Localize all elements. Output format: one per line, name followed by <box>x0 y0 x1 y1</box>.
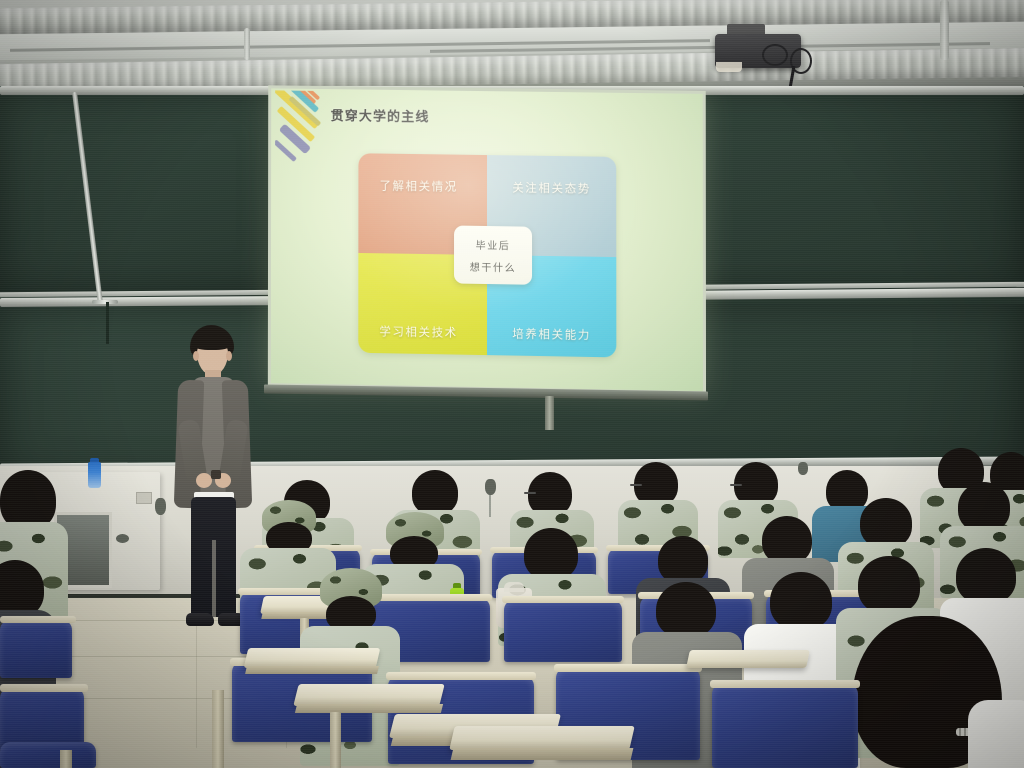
glasses-icon <box>630 484 642 486</box>
fold-out-desk[interactable] <box>293 684 444 706</box>
student-head <box>956 548 1016 604</box>
seat-support-post <box>212 690 224 768</box>
seat-top-edge <box>0 616 76 623</box>
seat-top-edge <box>386 672 536 680</box>
seat-support-post <box>60 750 72 768</box>
student-s19 <box>852 616 1020 768</box>
wall-socket[interactable] <box>136 492 152 504</box>
student-head <box>770 572 832 630</box>
quadrant-top-left-label: 了解相关情况 <box>379 177 457 194</box>
student-head <box>656 582 716 638</box>
seat-top-edge <box>502 596 624 603</box>
presenter-hand-left <box>196 473 212 488</box>
student-head <box>762 516 812 564</box>
presenter-hair-fringe <box>192 335 232 350</box>
presenter-ear-right <box>226 351 232 361</box>
projector-cable <box>762 44 788 66</box>
wall-hook-stem <box>489 495 491 517</box>
slide-decoration <box>275 90 352 167</box>
green-bottle-cap-icon <box>453 583 461 588</box>
fold-out-desk[interactable] <box>449 726 635 750</box>
desk-edge <box>451 748 634 760</box>
desk-edge <box>295 704 443 713</box>
student-torso <box>968 700 1024 768</box>
presenter-ear-left <box>193 351 199 361</box>
glasses-icon <box>730 484 742 486</box>
quadrant-bottom-left-label: 学习相关技术 <box>379 323 457 340</box>
projector-lens-icon <box>716 62 742 72</box>
student-head <box>412 470 458 515</box>
seat-top-edge <box>710 680 860 688</box>
wall-hook-icon-2 <box>116 534 129 543</box>
seat-top-edge <box>554 664 702 672</box>
fold-out-desk[interactable] <box>686 650 810 668</box>
center-box-line-1: 毕业后 <box>476 236 511 252</box>
presentation-clicker[interactable] <box>211 470 221 479</box>
lecture-hall-photo: 贯穿大学的主线 了解相关情况 关注相关态势 学习相关技术 培养相关能力 <box>0 0 1024 768</box>
slide-surface: 贯穿大学的主线 了解相关情况 关注相关态势 学习相关技术 培养相关能力 <box>271 88 703 391</box>
plastic-bag-handle <box>504 582 524 592</box>
presenter-leg-gap <box>212 540 216 618</box>
center-box-line-2: 想干什么 <box>470 258 516 274</box>
student-head <box>858 556 920 614</box>
screen-rod-hook-icon <box>106 302 109 344</box>
wall-hook-icon-3 <box>485 479 496 495</box>
student-head <box>958 482 1010 532</box>
screen-rod-joint <box>92 300 118 304</box>
student-head <box>524 528 578 580</box>
seat-top-edge <box>0 684 88 692</box>
desk-edge <box>245 666 379 674</box>
seat-support-post <box>330 712 341 768</box>
projection-screen[interactable]: 贯穿大学的主线 了解相关情况 关注相关态势 学习相关技术 培养相关能力 <box>268 85 706 394</box>
student-head <box>658 536 708 584</box>
seat-back[interactable] <box>504 600 622 662</box>
screen-bar-stub <box>545 396 554 430</box>
fold-out-desk[interactable] <box>244 648 381 668</box>
blackboard-panel-left-top <box>0 90 280 296</box>
student-head <box>0 470 56 530</box>
center-question-box[interactable]: 毕业后 想干什么 <box>454 226 532 285</box>
student-head <box>860 498 912 548</box>
seat-back[interactable] <box>712 684 858 768</box>
screen-frame: 贯穿大学的主线 了解相关情况 关注相关态势 学习相关技术 培养相关能力 <box>268 85 706 394</box>
quadrant-bottom-right-label: 培养相关能力 <box>512 325 591 342</box>
slide-title: 贯穿大学的主线 <box>331 105 430 125</box>
quadrant-top-right-label: 关注相关态势 <box>512 179 591 196</box>
vertical-pipe-2 <box>244 28 250 60</box>
seat-back[interactable] <box>0 620 72 678</box>
blue-water-bottle[interactable] <box>88 462 101 488</box>
glasses-icon <box>524 492 536 494</box>
wall-hook-icon-4 <box>798 462 808 475</box>
presenter-shoe-left <box>186 613 214 626</box>
vertical-pipe <box>940 0 949 60</box>
ceiling <box>0 0 1024 92</box>
seat-back[interactable] <box>0 742 96 768</box>
